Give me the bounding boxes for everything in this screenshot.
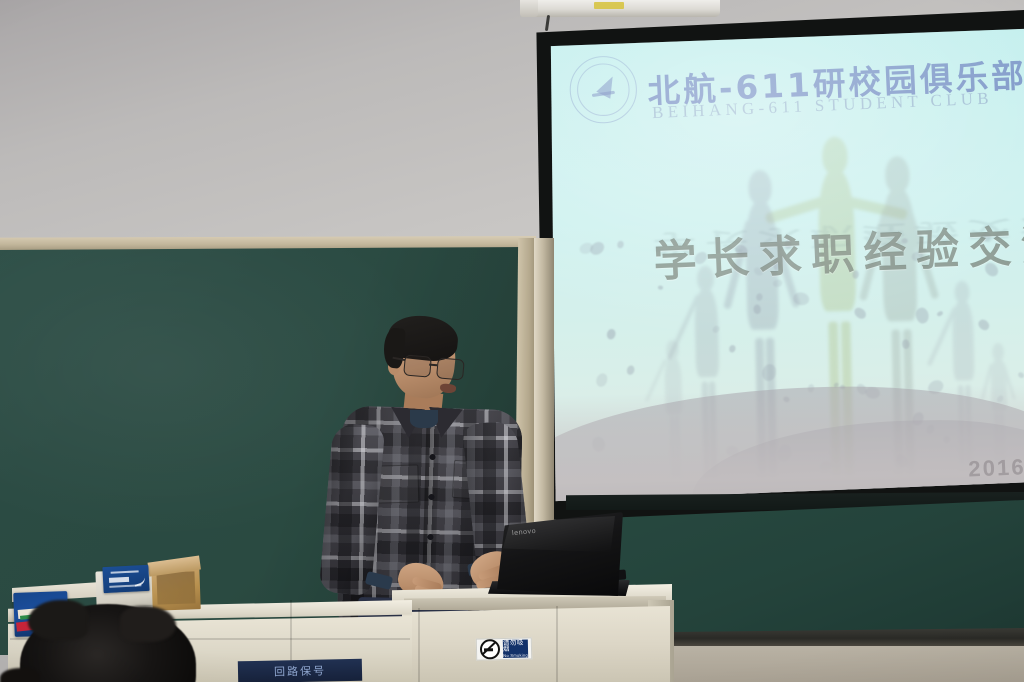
beihang-logo-mark-icon — [587, 75, 619, 103]
projector-screen-housing-endcap — [520, 0, 538, 17]
no-smoking-label-en: No Smoking — [503, 653, 528, 658]
slide-petal — [606, 328, 616, 340]
slide-petal — [752, 304, 761, 314]
projection-screen-surface: 北航-611研校园俱乐部 BEIHANG-611 STUDENT CLUB 学长… — [548, 26, 1024, 504]
no-smoking-sign: 请勿吸烟 No Smoking — [476, 637, 532, 660]
housing-warning-label — [594, 2, 624, 9]
card-text-line — [109, 577, 129, 583]
lectern-panel-seam — [556, 606, 558, 682]
slide-petal — [587, 239, 606, 257]
silhouette-head — [885, 156, 910, 193]
no-smoking-text: 请勿吸烟 No Smoking — [503, 639, 528, 658]
lectern-blue-plaque: 回路保号 — [238, 659, 362, 682]
lecture-hall-photo: 北航-611研校园俱乐部 BEIHANG-611 STUDENT CLUB 学长… — [0, 0, 1024, 682]
foreground-hair-tuft — [28, 600, 88, 640]
cardboard-carton — [151, 565, 201, 611]
silhouette-head — [822, 136, 848, 174]
beihang-seal-logo — [569, 55, 638, 124]
slide-year-watermark: 2016 — [968, 455, 1024, 483]
slide-petal — [936, 310, 943, 317]
lectern-front-panel — [402, 606, 670, 682]
foreground-audience-shoulder — [0, 668, 40, 682]
silhouette-head — [954, 281, 969, 303]
no-smoking-label-cn: 请勿吸烟 — [503, 640, 528, 654]
blue-info-card — [102, 565, 149, 593]
glasses-lens-left — [403, 354, 432, 377]
glasses-lens-right — [436, 357, 465, 380]
foreground-hair-tuft — [120, 606, 176, 642]
carton-interior — [156, 571, 195, 604]
presenter-inner-shirt — [410, 410, 438, 428]
slide-petal — [595, 372, 609, 388]
slide-main-title: 学长求职经验交流会 — [652, 207, 1024, 289]
slide-petal — [977, 317, 991, 331]
lectern-panel-seam — [418, 608, 420, 682]
presenter-glasses — [403, 354, 465, 379]
slide-petal — [617, 240, 624, 249]
slide-petal — [793, 291, 809, 304]
slide-petal — [1017, 372, 1024, 380]
slide-petal — [626, 364, 635, 375]
slide-petal — [729, 344, 736, 352]
card-swoosh-icon — [131, 572, 146, 587]
no-smoking-icon — [480, 639, 500, 659]
lectern-blue-plaque-text: 回路保号 — [274, 662, 326, 679]
silhouette-head — [748, 170, 772, 205]
